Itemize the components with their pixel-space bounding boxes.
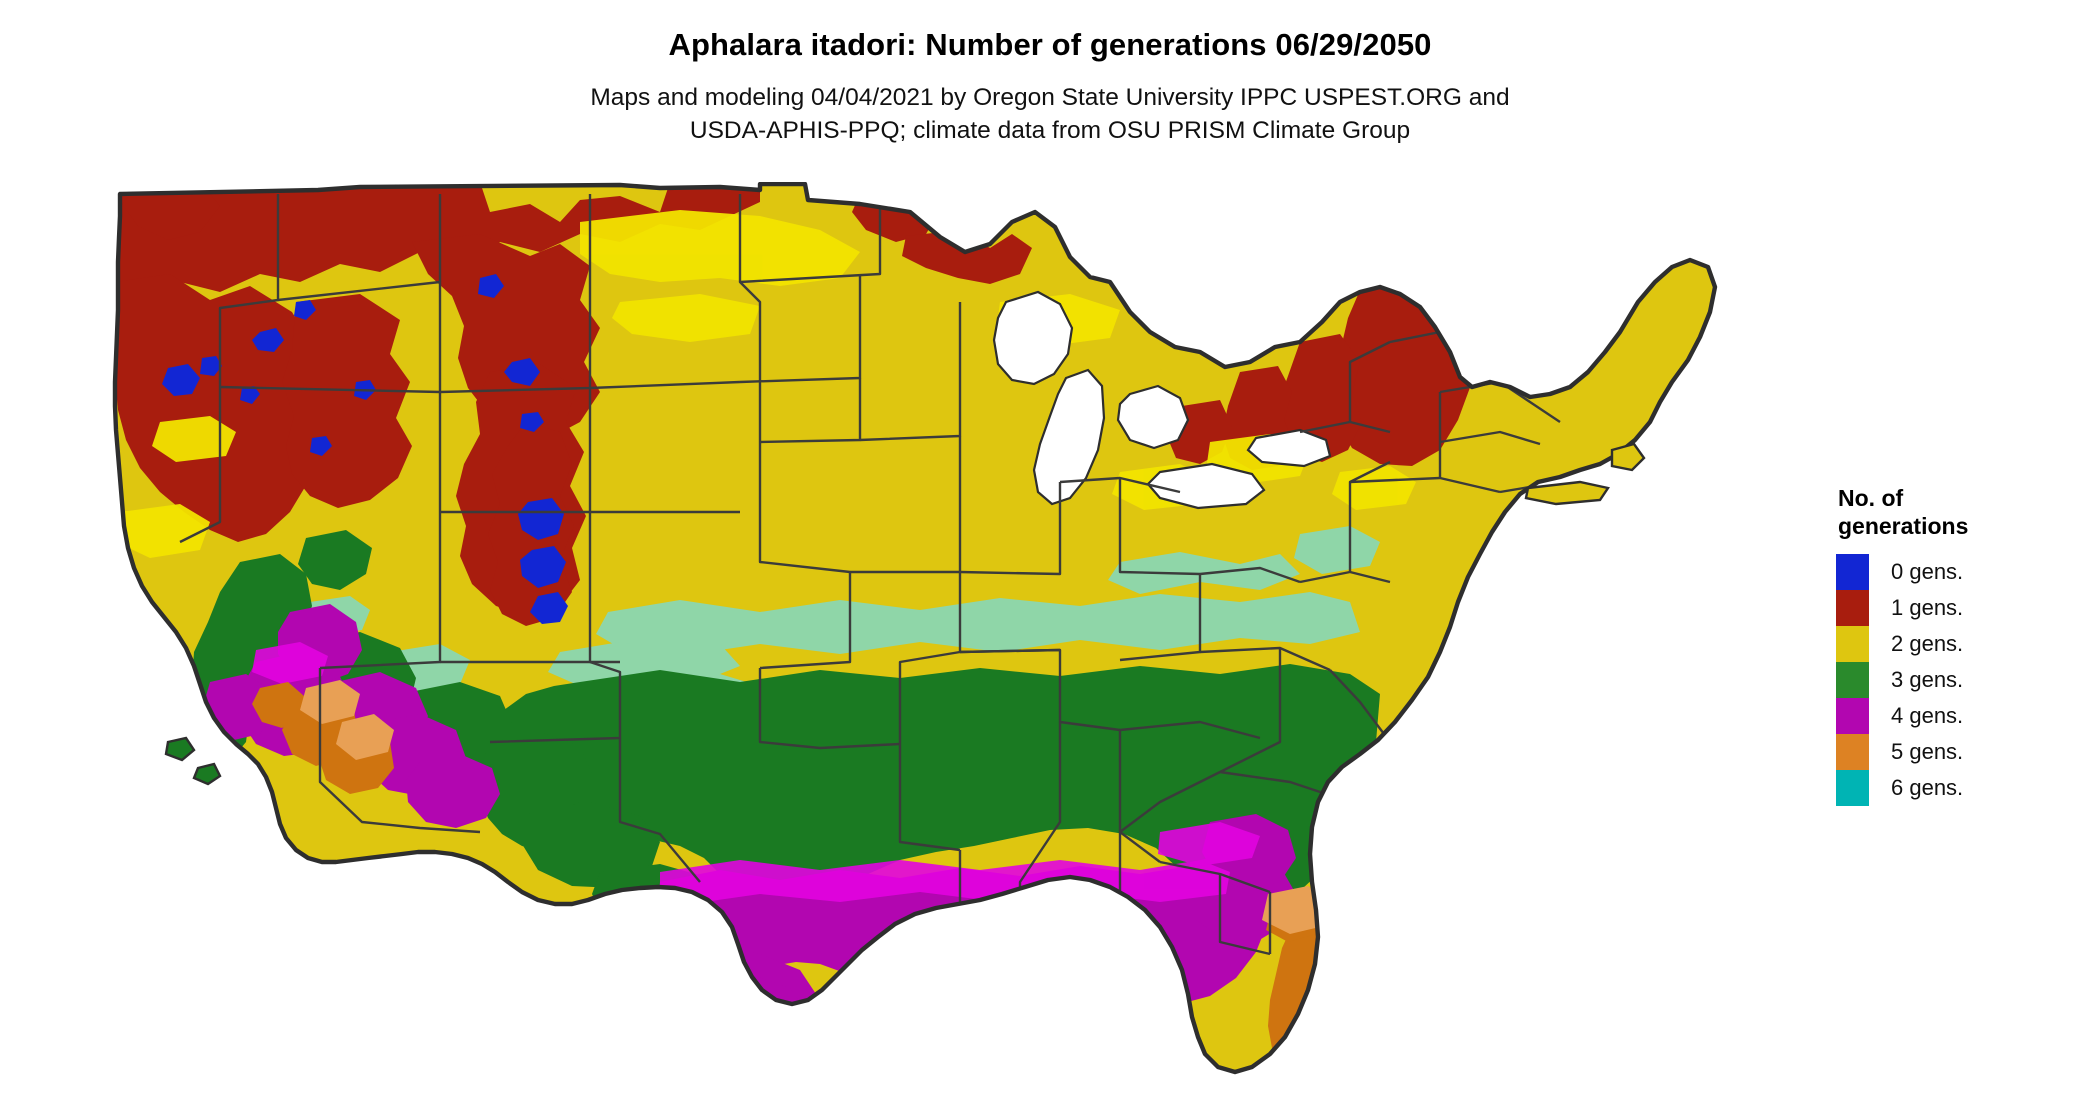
legend-item-1gens[interactable]: 1 gens. — [1836, 590, 2086, 626]
legend-entries: 0 gens. 1 gens. 2 gens. 3 gens. 4 gens. — [1836, 554, 2086, 806]
legend-swatch-3gens — [1836, 662, 1869, 698]
legend-label-2gens: 2 gens. — [1891, 633, 1963, 655]
page-title: Aphalara itadori: Number of generations … — [0, 28, 2100, 62]
cape-cod — [1612, 444, 1644, 470]
channel-island-2 — [194, 764, 220, 784]
legend-item-3gens[interactable]: 3 gens. — [1836, 662, 2086, 698]
map-legend: No. of generations 0 gens. 1 gens. 2 gen… — [1836, 484, 2086, 806]
legend-item-4gens[interactable]: 4 gens. — [1836, 698, 2086, 734]
legend-swatch-1gens — [1836, 590, 1869, 626]
conus-generations-map[interactable] — [60, 182, 1820, 1112]
map-canvas[interactable] — [60, 182, 1820, 1112]
legend-label-1gens: 1 gens. — [1891, 597, 1963, 619]
subtitle-line-2: USDA-APHIS-PPQ; climate data from OSU PR… — [0, 115, 2100, 148]
subtitle-block: Maps and modeling 04/04/2021 by Oregon S… — [0, 82, 2100, 147]
legend-swatch-2gens — [1836, 626, 1869, 662]
legend-swatch-5gens — [1836, 734, 1869, 770]
legend-label-4gens: 4 gens. — [1891, 705, 1963, 727]
generations-raster — [60, 182, 1820, 1112]
legend-item-0gens[interactable]: 0 gens. — [1836, 554, 2086, 590]
legend-title: No. of generations — [1838, 484, 2086, 540]
map-page: Aphalara itadori: Number of generations … — [0, 0, 2100, 1116]
legend-item-2gens[interactable]: 2 gens. — [1836, 626, 2086, 662]
long-island — [1526, 482, 1608, 504]
legend-label-0gens: 0 gens. — [1891, 561, 1963, 583]
legend-swatch-6gens — [1836, 770, 1869, 806]
raster-band-6gens — [1296, 1030, 1340, 1080]
legend-swatch-0gens — [1836, 554, 1869, 590]
legend-item-6gens[interactable]: 6 gens. — [1836, 770, 2086, 806]
header: Aphalara itadori: Number of generations … — [0, 0, 2100, 147]
legend-item-5gens[interactable]: 5 gens. — [1836, 734, 2086, 770]
legend-swatch-4gens — [1836, 698, 1869, 734]
legend-label-6gens: 6 gens. — [1891, 777, 1963, 799]
legend-label-5gens: 5 gens. — [1891, 741, 1963, 763]
subtitle-line-1: Maps and modeling 04/04/2021 by Oregon S… — [0, 82, 2100, 115]
channel-island-1 — [166, 738, 194, 760]
legend-label-3gens: 3 gens. — [1891, 669, 1963, 691]
